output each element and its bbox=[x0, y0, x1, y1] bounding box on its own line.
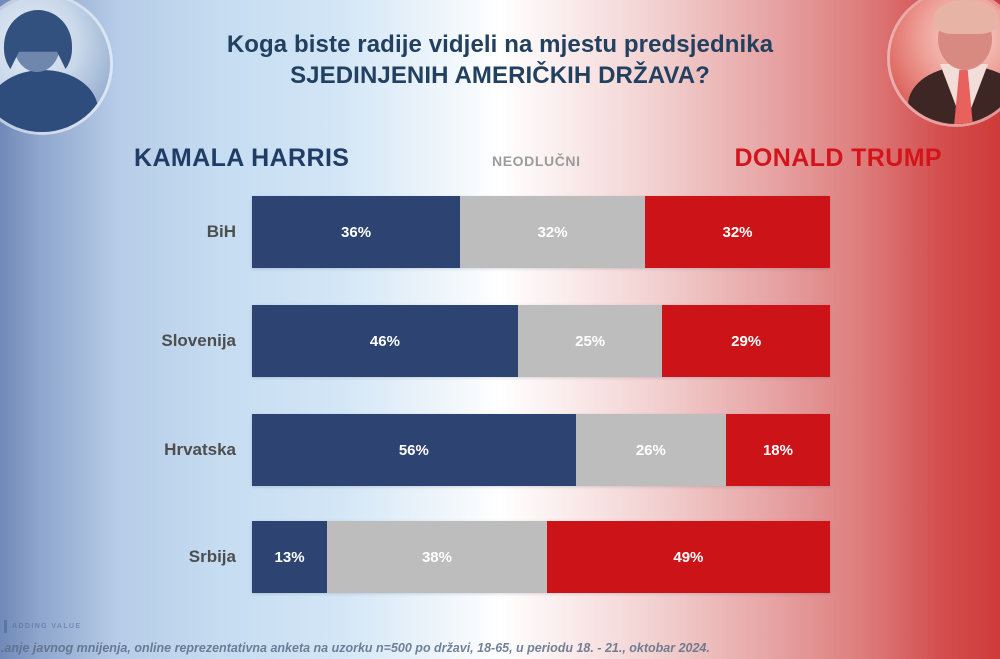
bar-segment: 25% bbox=[518, 305, 663, 377]
chart-row: Slovenija46%25%29% bbox=[0, 305, 1000, 377]
title-line-1: Koga biste radije vidjeli na mjestu pred… bbox=[0, 30, 1000, 60]
stacked-bar: 56%26%18% bbox=[252, 414, 830, 486]
bar-segment: 29% bbox=[662, 305, 830, 377]
stacked-bar-chart: BiH36%32%32%Slovenija46%25%29%Hrvatska56… bbox=[0, 196, 1000, 606]
legend-item-trump: DONALD TRUMP bbox=[734, 144, 942, 173]
bar-segment: 38% bbox=[327, 521, 547, 593]
title-line-2: SJEDINJENIH AMERIČKIH DRŽAVA? bbox=[0, 60, 1000, 91]
bar-segment: 46% bbox=[252, 305, 518, 377]
bar-segment: 26% bbox=[576, 414, 726, 486]
logo-bar-icon bbox=[4, 620, 7, 633]
chart-row: BiH36%32%32% bbox=[0, 196, 1000, 268]
row-label: BiH bbox=[110, 222, 236, 242]
stacked-bar: 13%38%49% bbox=[252, 521, 830, 593]
legend-item-harris: KAMALA HARRIS bbox=[134, 144, 349, 173]
bar-segment: 36% bbox=[252, 196, 460, 268]
bar-segment: 56% bbox=[252, 414, 576, 486]
row-label: Slovenija bbox=[110, 331, 236, 351]
stacked-bar: 36%32%32% bbox=[252, 196, 830, 268]
poll-infographic: Koga biste radije vidjeli na mjestu pred… bbox=[0, 0, 1000, 659]
legend-item-undecided: NEODLUČNI bbox=[492, 153, 581, 169]
chart-row: Hrvatska56%26%18% bbox=[0, 414, 1000, 486]
bar-segment: 32% bbox=[645, 196, 830, 268]
methodology-footnote: ...anje javnog mnijenja, online reprezen… bbox=[0, 641, 710, 655]
bar-segment: 49% bbox=[547, 521, 830, 593]
row-label: Hrvatska bbox=[110, 440, 236, 460]
row-label: Srbija bbox=[110, 547, 236, 567]
bar-segment: 18% bbox=[726, 414, 830, 486]
agency-logo: ADDING VALUE bbox=[4, 619, 100, 633]
trump-hair-shape bbox=[934, 0, 998, 34]
chart-title: Koga biste radije vidjeli na mjestu pred… bbox=[0, 30, 1000, 91]
chart-row: Srbija13%38%49% bbox=[0, 521, 1000, 593]
bar-segment: 13% bbox=[252, 521, 327, 593]
bar-segment: 32% bbox=[460, 196, 645, 268]
logo-text: ADDING VALUE bbox=[12, 623, 82, 630]
chart-legend: KAMALA HARRIS NEODLUČNI DONALD TRUMP bbox=[0, 144, 1000, 180]
stacked-bar: 46%25%29% bbox=[252, 305, 830, 377]
